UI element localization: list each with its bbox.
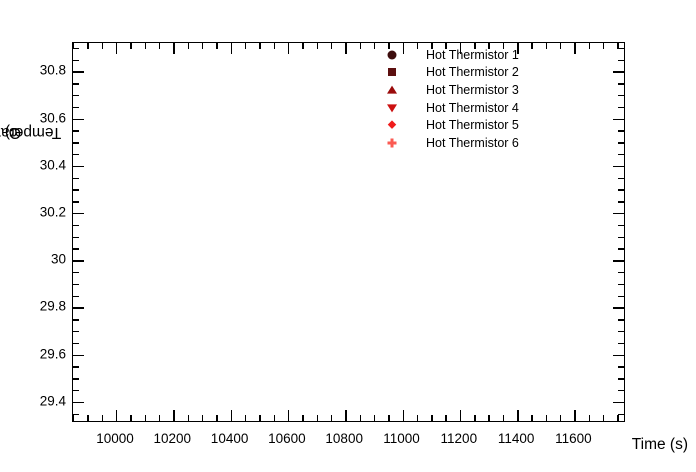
x-minor-tick [331, 415, 332, 421]
x-minor-tick [87, 415, 88, 421]
x-minor-tick [360, 415, 361, 421]
x-minor-tick-top [374, 43, 375, 49]
y-minor-tick-right [618, 83, 624, 84]
x-minor-tick [603, 415, 604, 421]
y-minor-tick-right [618, 130, 624, 131]
y-minor-tick [73, 189, 79, 190]
y-tick-label: 29.4 [40, 393, 66, 408]
x-minor-tick [431, 415, 432, 421]
x-major-tick [288, 410, 289, 421]
y-major-tick [73, 166, 84, 167]
x-minor-tick [216, 415, 217, 421]
y-major-tick [73, 213, 84, 214]
x-axis-title: Time (s) [632, 436, 688, 454]
x-minor-tick [130, 415, 131, 421]
legend-label: Hot Thermistor 1 [426, 48, 519, 62]
y-minor-tick [73, 154, 79, 155]
x-minor-tick [488, 415, 489, 421]
x-minor-tick-top [159, 43, 160, 49]
y-minor-tick-right [618, 225, 624, 226]
x-major-tick-top [288, 43, 289, 54]
y-major-tick [73, 402, 84, 403]
y-major-tick [73, 355, 84, 356]
y-major-tick-right [613, 213, 624, 214]
y-minor-tick [73, 296, 79, 297]
legend-entry[interactable]: Hot Thermistor 3 [378, 81, 588, 99]
x-minor-tick [445, 415, 446, 421]
x-tick-label: 11000 [383, 431, 420, 446]
y-minor-tick [73, 284, 79, 285]
x-minor-tick [589, 415, 590, 421]
legend-entry[interactable]: Hot Thermistor 5 [378, 116, 588, 134]
y-minor-tick [73, 95, 79, 96]
x-tick-label: 11600 [555, 431, 592, 446]
y-minor-tick-right [618, 248, 624, 249]
x-minor-tick [560, 415, 561, 421]
y-minor-tick-right [618, 366, 624, 367]
x-major-tick [345, 410, 346, 421]
x-major-tick-top [345, 43, 346, 54]
x-tick-label: 10600 [268, 431, 306, 446]
y-tick-label: 30.8 [40, 63, 66, 78]
x-major-tick [460, 410, 461, 421]
legend-label: Hot Thermistor 3 [426, 83, 519, 97]
y-minor-tick [73, 178, 79, 179]
x-major-tick [173, 410, 174, 421]
y-minor-tick-right [618, 178, 624, 179]
x-minor-tick [546, 415, 547, 421]
y-minor-tick-right [618, 48, 624, 49]
y-minor-tick-right [618, 272, 624, 273]
y-minor-tick [73, 414, 79, 415]
x-minor-tick [259, 415, 260, 421]
y-major-tick [73, 71, 84, 72]
y-minor-tick-right [618, 331, 624, 332]
y-tick-label: 30.6 [40, 110, 66, 125]
y-minor-tick [73, 201, 79, 202]
x-major-tick [116, 410, 117, 421]
x-minor-tick [274, 415, 275, 421]
y-minor-tick-right [618, 95, 624, 96]
y-tick-label: 30.2 [40, 204, 66, 219]
x-minor-tick-top [188, 43, 189, 49]
x-minor-tick-top [202, 43, 203, 49]
marker-circle-icon [388, 50, 397, 59]
x-tick-label: 10800 [325, 431, 363, 446]
y-major-tick-right [613, 307, 624, 308]
y-axis-title-tail: C) [5, 123, 21, 141]
x-minor-tick [374, 415, 375, 421]
x-minor-tick [302, 415, 303, 421]
y-tick-label: 29.6 [40, 346, 66, 361]
y-major-tick-right [613, 402, 624, 403]
legend-label: Hot Thermistor 5 [426, 118, 519, 132]
x-minor-tick-top [130, 43, 131, 49]
x-major-tick-top [231, 43, 232, 54]
y-minor-tick-right [618, 296, 624, 297]
x-major-tick [231, 410, 232, 421]
y-minor-tick [73, 248, 79, 249]
x-minor-tick [202, 415, 203, 421]
x-major-tick-top [116, 43, 117, 54]
x-major-tick-top [173, 43, 174, 54]
legend-label: Hot Thermistor 2 [426, 65, 519, 79]
x-tick-label: 10200 [154, 431, 192, 446]
cross-bar-v [391, 138, 394, 147]
y-minor-tick [73, 48, 79, 49]
legend-label: Hot Thermistor 6 [426, 136, 519, 150]
x-minor-tick [245, 415, 246, 421]
y-minor-tick [73, 390, 79, 391]
x-tick-label: 10000 [96, 431, 134, 446]
x-tick-label: 11200 [441, 431, 478, 446]
x-minor-tick [503, 415, 504, 421]
y-tick-label: 30 [51, 252, 66, 267]
y-minor-tick-right [618, 107, 624, 108]
y-major-tick [73, 260, 84, 261]
x-tick-label: 10400 [211, 431, 249, 446]
y-minor-tick [73, 237, 79, 238]
y-tick-label: 30.4 [40, 157, 66, 172]
x-minor-tick-top [145, 43, 146, 49]
plot-canvas: Temperature (oC) Time (s) 10000102001040… [0, 0, 696, 472]
marker-cross-icon [388, 138, 397, 147]
y-minor-tick-right [618, 414, 624, 415]
y-minor-tick [73, 130, 79, 131]
x-minor-tick [317, 415, 318, 421]
y-minor-tick-right [618, 284, 624, 285]
x-minor-tick [102, 415, 103, 421]
legend-entry[interactable]: Hot Thermistor 1 [378, 46, 588, 64]
legend-entry[interactable]: Hot Thermistor 6 [378, 134, 588, 152]
x-major-tick [574, 410, 575, 421]
x-major-tick [403, 410, 404, 421]
x-minor-tick-top [216, 43, 217, 49]
marker-triangle-down-icon [387, 104, 397, 112]
y-minor-tick [73, 83, 79, 84]
legend-label: Hot Thermistor 4 [426, 101, 519, 115]
y-minor-tick-right [618, 378, 624, 379]
y-minor-tick-right [618, 319, 624, 320]
y-minor-tick [73, 378, 79, 379]
y-minor-tick-right [618, 343, 624, 344]
y-minor-tick-right [618, 201, 624, 202]
marker-diamond-icon [387, 121, 396, 130]
y-axis-title: Temperature (oC) [2, 42, 24, 222]
x-minor-tick-top [317, 43, 318, 49]
x-minor-tick [73, 415, 74, 421]
y-major-tick-right [613, 355, 624, 356]
y-minor-tick [73, 343, 79, 344]
y-major-tick-right [613, 260, 624, 261]
y-minor-tick [73, 60, 79, 61]
x-tick-label: 11400 [498, 431, 535, 446]
x-minor-tick [474, 415, 475, 421]
legend-entry[interactable]: Hot Thermistor 4 [378, 99, 588, 117]
y-major-tick-right [613, 119, 624, 120]
y-major-tick-right [613, 71, 624, 72]
x-minor-tick-top [259, 43, 260, 49]
legend-entry[interactable]: Hot Thermistor 2 [378, 64, 588, 82]
y-minor-tick-right [618, 189, 624, 190]
x-minor-tick-top [274, 43, 275, 49]
x-minor-tick-top [331, 43, 332, 49]
x-minor-tick [145, 415, 146, 421]
marker-triangle-up-icon [387, 86, 397, 94]
x-minor-tick-top [589, 43, 590, 49]
y-minor-tick-right [618, 142, 624, 143]
x-minor-tick-top [603, 43, 604, 49]
x-minor-tick [417, 415, 418, 421]
x-minor-tick-top [102, 43, 103, 49]
y-minor-tick [73, 319, 79, 320]
x-minor-tick-top [360, 43, 361, 49]
y-minor-tick [73, 107, 79, 108]
x-minor-tick [388, 415, 389, 421]
x-minor-tick [159, 415, 160, 421]
y-tick-label: 29.8 [40, 299, 66, 314]
y-minor-tick-right [618, 60, 624, 61]
legend: Hot Thermistor 1Hot Thermistor 2Hot Ther… [378, 46, 588, 152]
y-minor-tick [73, 366, 79, 367]
y-minor-tick [73, 272, 79, 273]
x-minor-tick-top [87, 43, 88, 49]
y-major-tick [73, 119, 84, 120]
x-major-tick [517, 410, 518, 421]
y-minor-tick-right [618, 390, 624, 391]
x-minor-tick-top [245, 43, 246, 49]
y-major-tick-right [613, 166, 624, 167]
x-minor-tick [188, 415, 189, 421]
y-minor-tick-right [618, 237, 624, 238]
x-minor-tick [617, 415, 618, 421]
y-minor-tick [73, 331, 79, 332]
x-minor-tick [531, 415, 532, 421]
x-minor-tick-top [302, 43, 303, 49]
y-major-tick [73, 307, 84, 308]
y-minor-tick [73, 142, 79, 143]
marker-square-icon [388, 68, 396, 76]
y-minor-tick [73, 225, 79, 226]
y-minor-tick-right [618, 154, 624, 155]
